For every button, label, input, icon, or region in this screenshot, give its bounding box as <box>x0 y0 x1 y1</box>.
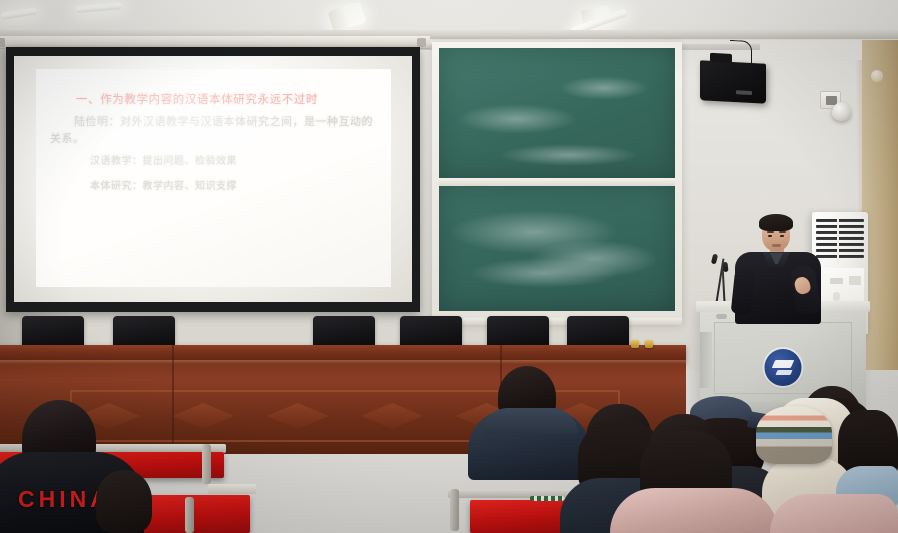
chalk-tray <box>432 318 682 325</box>
security-camera-icon <box>832 102 851 121</box>
desk-post <box>185 497 194 533</box>
chalk-smudge <box>499 144 639 166</box>
university-emblem-icon <box>765 349 802 386</box>
audience-member-head <box>96 470 152 533</box>
diamond-motif <box>361 403 423 429</box>
presenter-eyebrow <box>767 231 774 233</box>
wall-fixture <box>871 70 883 82</box>
slide-body: 陆俭明：对外汉语教学与汉语本体研究之间，是一种互动的关系。 <box>50 113 377 147</box>
slide-title: 一、作为教学内容的汉语本体研究永远不过时 <box>50 91 377 107</box>
ac-vents <box>816 219 864 263</box>
screen-endcap <box>0 38 5 47</box>
hood-collar <box>482 408 578 434</box>
microphone-icon <box>722 262 728 272</box>
table-seam <box>172 345 174 453</box>
diamond-motif <box>172 403 234 429</box>
lectern-control-button[interactable] <box>716 314 727 319</box>
speaker-mount <box>710 53 732 63</box>
lecture-hall-photo: 一、作为教学内容的汉语本体研究永远不过时 陆俭明：对外汉语教学与汉语本体研究之间… <box>0 0 898 533</box>
chalkboard-panel-upper <box>439 48 675 178</box>
presenter-hair <box>759 214 793 231</box>
ac-logo <box>830 278 843 284</box>
paper-stack[interactable] <box>208 484 256 494</box>
striped-knit-beanie <box>756 406 832 464</box>
desk-post <box>202 444 211 484</box>
ceiling-light <box>1 7 38 20</box>
speaker-brand-plate <box>736 90 752 95</box>
chalk-smudge <box>559 76 649 100</box>
screen-endcap <box>417 38 426 47</box>
presenter-mouth <box>772 244 781 247</box>
chalkboard-panel-lower <box>439 186 675 311</box>
slide-subline-1: 汉语教学：提出问题、检验效果 <box>50 152 377 172</box>
presentation-slide: 一、作为教学内容的汉语本体研究永远不过时 陆俭明：对外汉语教学与汉语本体研究之间… <box>36 69 391 287</box>
speaker-cable <box>730 40 752 65</box>
chalk-smudge <box>469 258 619 288</box>
blush-pink-coat <box>770 494 898 533</box>
projection-screen[interactable]: 一、作为教学内容的汉语本体研究永远不过时 陆俭明：对外汉语教学与汉语本体研究之间… <box>6 47 420 312</box>
ac-knob[interactable] <box>833 292 840 301</box>
chalkboard[interactable] <box>432 42 682 323</box>
lectern-front-panel <box>714 322 852 394</box>
pen-set[interactable] <box>530 496 564 501</box>
ceiling-light <box>327 1 366 32</box>
slide-subline-2: 本体研究：教学内容、知识支撑 <box>50 177 377 197</box>
ac-vent-divider <box>837 219 839 263</box>
ceiling-light <box>76 2 122 13</box>
brass-desk-item[interactable] <box>645 340 653 348</box>
presenter-eyebrow <box>779 231 786 233</box>
chalk-smudge <box>457 104 577 134</box>
loudspeaker-icon <box>700 60 766 103</box>
diamond-motif <box>267 403 329 429</box>
desk-post <box>450 489 459 531</box>
audience-member-body <box>610 488 778 533</box>
chalkboard-divider <box>439 178 675 186</box>
ac-display <box>849 276 861 285</box>
screen-surface: 一、作为教学内容的汉语本体研究永远不过时 陆俭明：对外汉语教学与汉语本体研究之间… <box>14 56 412 302</box>
brass-desk-item[interactable] <box>631 340 639 348</box>
lectern-side-panel <box>700 332 712 388</box>
